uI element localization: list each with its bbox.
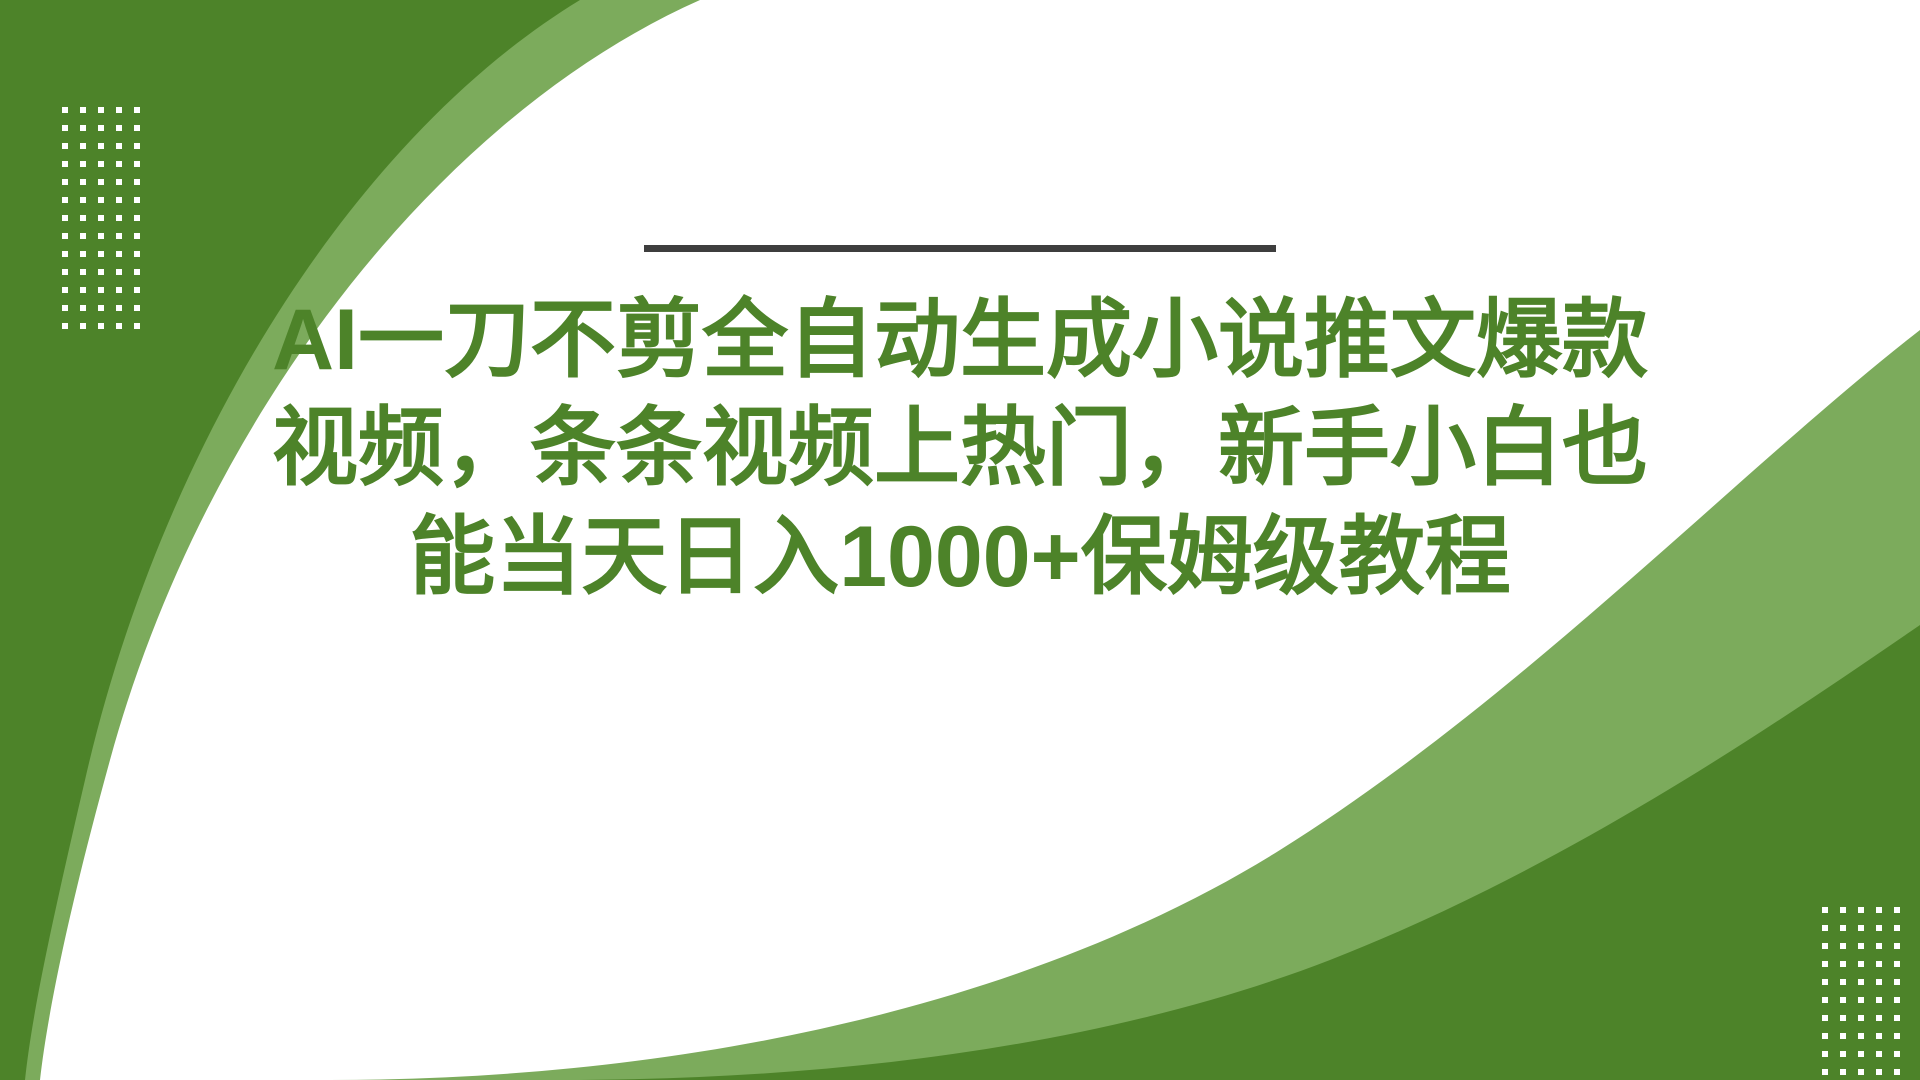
banner-content: AI一刀不剪全自动生成小说推文爆款视频，条条视频上热门，新手小白也能当天日入10… [0, 0, 1920, 1080]
title-divider-rule [644, 245, 1276, 252]
promo-banner: AI一刀不剪全自动生成小说推文爆款视频，条条视频上热门，新手小白也能当天日入10… [0, 0, 1920, 1080]
banner-title: AI一刀不剪全自动生成小说推文爆款视频，条条视频上热门，新手小白也能当天日入10… [250, 286, 1670, 611]
